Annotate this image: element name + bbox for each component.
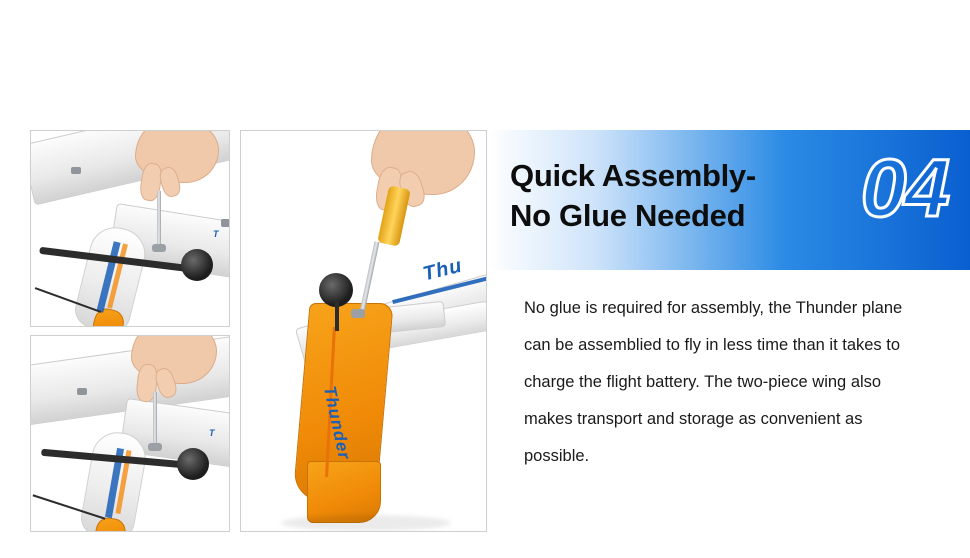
image-panel-bottom-left: T xyxy=(30,335,230,532)
drop-shadow xyxy=(281,515,451,531)
photo-scene-right: Thu Thunder xyxy=(241,131,486,531)
wheel-strut xyxy=(335,301,339,331)
image-panel-right: Thu Thunder xyxy=(240,130,487,532)
page-title: Quick Assembly- No Glue Needed xyxy=(510,156,910,236)
section-number-badge: 04 xyxy=(861,148,948,230)
rudder xyxy=(307,461,381,523)
page-root: T T xyxy=(0,0,970,558)
tail-screw xyxy=(351,309,365,318)
wing-hardware-dot xyxy=(77,388,87,395)
screwdriver-shaft xyxy=(153,392,157,448)
screwdriver-shaft xyxy=(157,191,161,249)
body-paragraph: No glue is required for assembly, the Th… xyxy=(524,290,924,475)
wing-decal: T xyxy=(213,229,220,239)
wing-hardware-dot xyxy=(71,167,81,174)
wing-screw xyxy=(152,244,166,252)
wing-screw xyxy=(148,443,162,451)
wing-hardware-dot-2 xyxy=(221,219,230,227)
photo-scene-top-left: T xyxy=(31,131,229,326)
photo-scene-bottom-left: T xyxy=(31,336,229,531)
wing-decal: T xyxy=(209,428,216,438)
image-panel-top-left: T xyxy=(30,130,230,327)
screwdriver-shaft xyxy=(360,241,380,312)
landing-gear-wheel xyxy=(177,448,209,480)
landing-gear-wheel xyxy=(181,249,213,281)
